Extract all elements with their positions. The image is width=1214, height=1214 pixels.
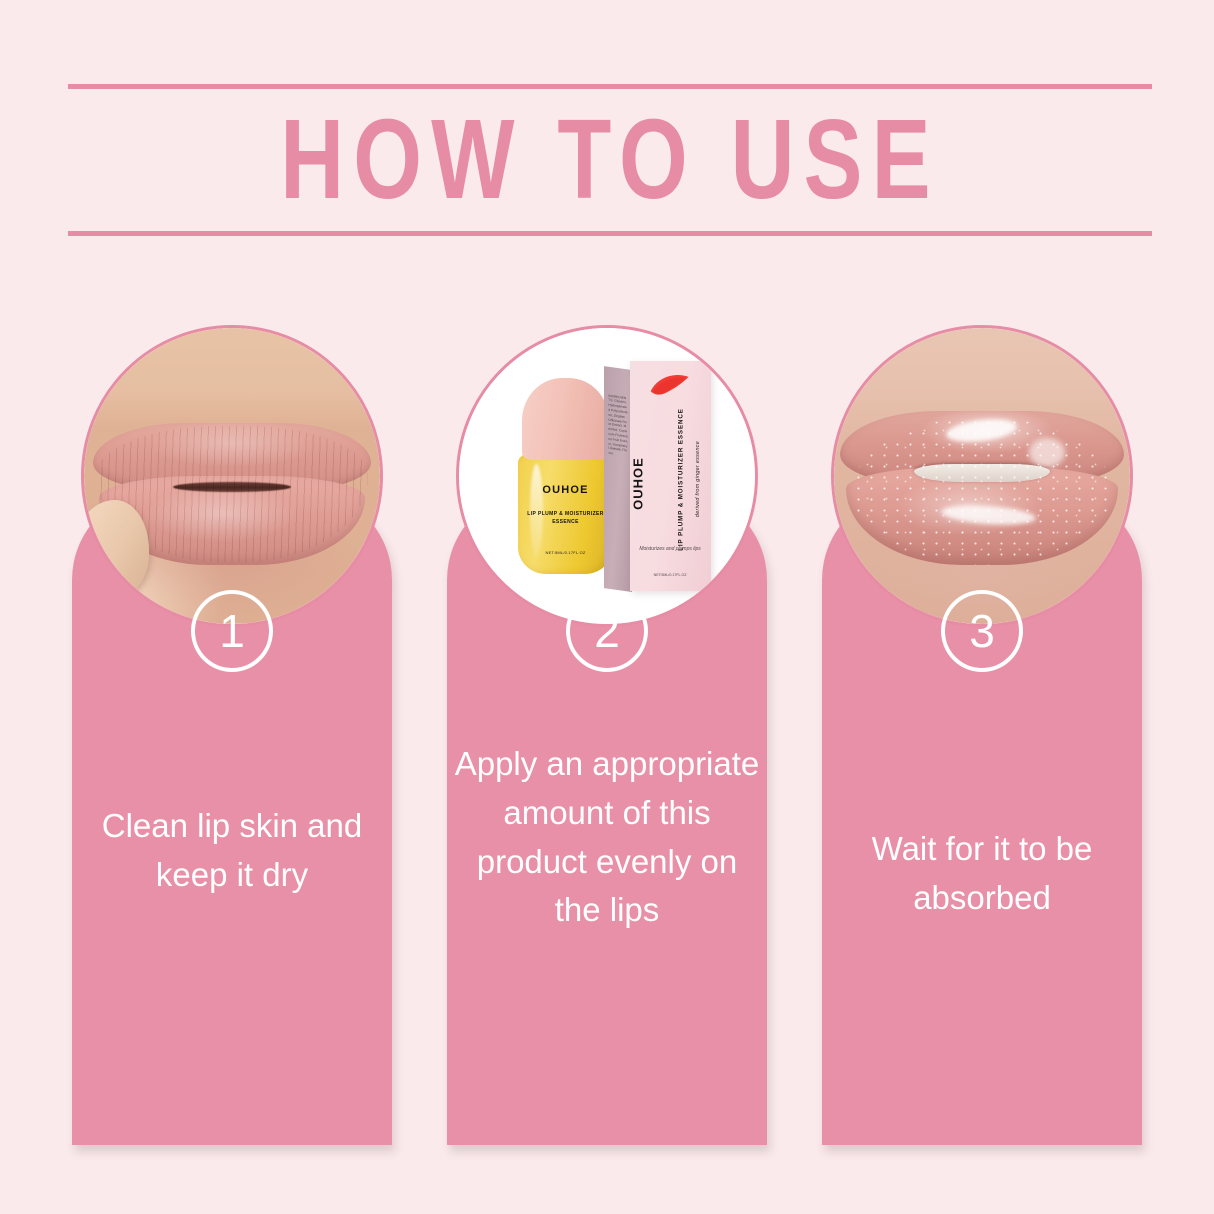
product-bottle: OUHOE LIP PLUMP & MOISTURIZER ESSENCE NE… (518, 378, 613, 573)
bottle-description-text: LIP PLUMP & MOISTURIZER ESSENCE (518, 511, 613, 526)
title-rule-bottom (68, 231, 1152, 236)
box-side-panel: INGREDIENTS: Glycerin, Hydrogenated Poly… (604, 366, 632, 592)
product-box: INGREDIENTS: Glycerin, Hydrogenated Poly… (604, 361, 711, 592)
step-badge-2: 2 (566, 590, 648, 672)
box-ingredients-text: INGREDIENTS: Glycerin, Hydrogenated Poly… (608, 393, 627, 458)
box-title-text: LIP PLUMP & MOISTURIZER ESSENCE (677, 408, 684, 551)
step-card-3: 3 Wait for it to be absorbed (812, 300, 1152, 1170)
step-photo-1 (81, 325, 383, 627)
step-photo-3 (831, 325, 1133, 627)
header: HOW TO USE (68, 84, 1152, 236)
box-derived-text: derived from ginger essence (695, 441, 701, 517)
box-net-weight-text: NET:5ML/0.17FL.OZ (630, 573, 711, 577)
bottle-brand-text: OUHOE (518, 484, 613, 496)
bottle-cap (522, 378, 609, 460)
step-photo-2: OUHOE LIP PLUMP & MOISTURIZER ESSENCE NE… (456, 325, 758, 627)
step-card-2: OUHOE LIP PLUMP & MOISTURIZER ESSENCE NE… (437, 300, 777, 1170)
page-title: HOW TO USE (111, 70, 1108, 249)
step-caption-1: Clean lip skin and keep it dry (76, 802, 388, 900)
gloss-highlight-side (1029, 438, 1065, 468)
dry-lips-image (84, 328, 380, 624)
product-image: OUHOE LIP PLUMP & MOISTURIZER ESSENCE NE… (459, 328, 755, 624)
box-brand-text: OUHOE (630, 457, 645, 510)
steps-row: 1 Clean lip skin and keep it dry OUHOE L… (0, 300, 1214, 1170)
box-front-panel: OUHOE LIP PLUMP & MOISTURIZER ESSENCE de… (630, 361, 711, 592)
glossy-lips-image (834, 328, 1130, 624)
product-scene: OUHOE LIP PLUMP & MOISTURIZER ESSENCE NE… (459, 328, 755, 624)
red-lips-icon (649, 372, 691, 402)
step-card-1: 1 Clean lip skin and keep it dry (62, 300, 402, 1170)
box-tagline-text: Moisturizes and plumps lips (630, 545, 711, 553)
step-badge-1: 1 (191, 590, 273, 672)
step-caption-3: Wait for it to be absorbed (826, 825, 1138, 923)
bottle-net-weight-text: NET:5ML/0.17FL.OZ (518, 550, 613, 555)
step-badge-3: 3 (941, 590, 1023, 672)
step-caption-2: Apply an appropriate amount of this prod… (451, 740, 763, 935)
